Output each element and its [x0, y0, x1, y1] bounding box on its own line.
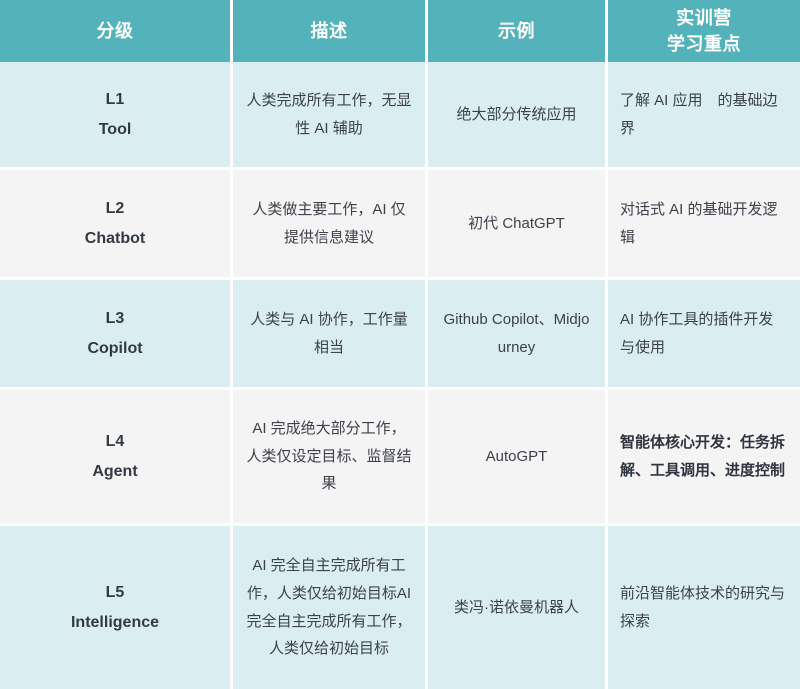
- cell-focus: 智能体核心开发：任务拆解、工具调用、进度控制: [608, 390, 800, 526]
- table-body: L1 Tool 人类完成所有工作，无显性 AI 辅助 绝大部分传统应用 了解 A…: [0, 62, 800, 689]
- column-header-description: 描述: [233, 0, 428, 62]
- cell-level: L4 Agent: [0, 390, 233, 526]
- level-name: Copilot: [12, 334, 218, 364]
- column-header-description-label: 描述: [243, 18, 415, 44]
- level-code: L2: [12, 194, 218, 224]
- level-name: Tool: [12, 115, 218, 145]
- table-header: 分级 描述 示例 实训营 学习重点: [0, 0, 800, 62]
- cell-description: AI 完成绝大部分工作，人类仅设定目标、监督结果: [233, 390, 428, 526]
- level-name: Agent: [12, 457, 218, 487]
- cell-level: L3 Copilot: [0, 280, 233, 390]
- column-header-focus-label-line2: 学习重点: [618, 31, 790, 57]
- table-row: L2 Chatbot 人类做主要工作，AI 仅提供信息建议 初代 ChatGPT…: [0, 170, 800, 280]
- column-header-focus-label-line1: 实训营: [618, 5, 790, 31]
- cell-description: 人类与 AI 协作，工作量相当: [233, 280, 428, 390]
- cell-level: L1 Tool: [0, 62, 233, 170]
- cell-description: AI 完全自主完成所有工作，人类仅给初始目标AI 完全自主完成所有工作，人类仅给…: [233, 526, 428, 689]
- level-code: L3: [12, 304, 218, 334]
- cell-focus: AI 协作工具的插件开发与使用: [608, 280, 800, 390]
- column-header-level-label: 分级: [10, 18, 220, 44]
- level-code: L4: [12, 427, 218, 457]
- level-name: Intelligence: [12, 608, 218, 638]
- column-header-focus: 实训营 学习重点: [608, 0, 800, 62]
- table-row: L5 Intelligence AI 完全自主完成所有工作，人类仅给初始目标AI…: [0, 526, 800, 689]
- cell-example: 初代 ChatGPT: [428, 170, 608, 280]
- cell-focus: 对话式 AI 的基础开发逻辑: [608, 170, 800, 280]
- column-header-example: 示例: [428, 0, 608, 62]
- cell-focus: 了解 AI 应用 的基础边界: [608, 62, 800, 170]
- table-row: L4 Agent AI 完成绝大部分工作，人类仅设定目标、监督结果 AutoGP…: [0, 390, 800, 526]
- ai-grade-table: 分级 描述 示例 实训营 学习重点 L1 Tool 人: [0, 0, 800, 689]
- ai-grade-table-container: 分级 描述 示例 实训营 学习重点 L1 Tool 人: [0, 0, 800, 569]
- cell-level: L2 Chatbot: [0, 170, 233, 280]
- cell-example: AutoGPT: [428, 390, 608, 526]
- table-header-row: 分级 描述 示例 实训营 学习重点: [0, 0, 800, 62]
- cell-example: 绝大部分传统应用: [428, 62, 608, 170]
- column-header-level: 分级: [0, 0, 233, 62]
- cell-focus: 前沿智能体技术的研究与探索: [608, 526, 800, 689]
- table-row: L1 Tool 人类完成所有工作，无显性 AI 辅助 绝大部分传统应用 了解 A…: [0, 62, 800, 170]
- column-header-example-label: 示例: [438, 18, 595, 44]
- table-row: L3 Copilot 人类与 AI 协作，工作量相当 Github Copilo…: [0, 280, 800, 390]
- level-code: L5: [12, 578, 218, 608]
- cell-example: 类冯·诺依曼机器人: [428, 526, 608, 689]
- cell-description: 人类完成所有工作，无显性 AI 辅助: [233, 62, 428, 170]
- cell-level: L5 Intelligence: [0, 526, 233, 689]
- cell-example: Github Copilot、Midjourney: [428, 280, 608, 390]
- level-name: Chatbot: [12, 224, 218, 254]
- level-code: L1: [12, 85, 218, 115]
- cell-description: 人类做主要工作，AI 仅提供信息建议: [233, 170, 428, 280]
